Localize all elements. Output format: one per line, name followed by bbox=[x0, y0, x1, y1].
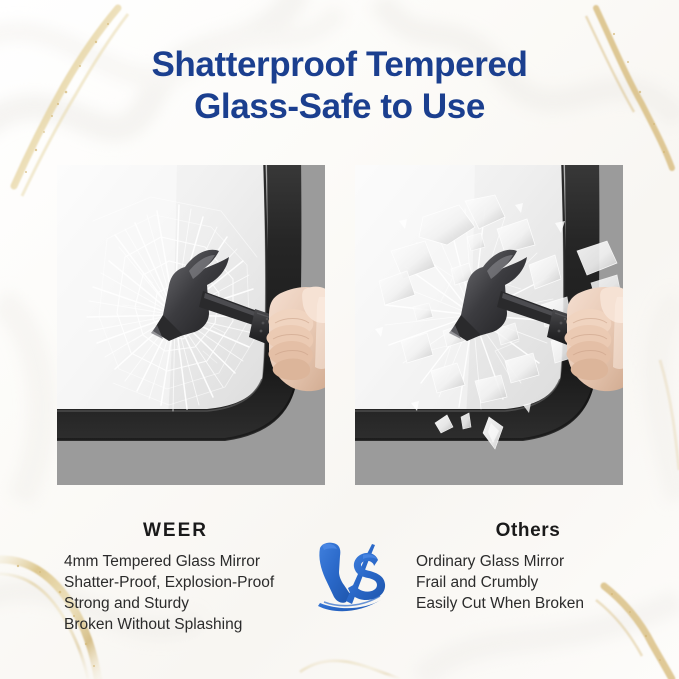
list-item: Easily Cut When Broken bbox=[416, 593, 658, 614]
product-image-others bbox=[355, 165, 623, 485]
list-item: Broken Without Splashing bbox=[64, 614, 313, 635]
vs-badge bbox=[306, 532, 392, 616]
comparison-column-weer: WEER 4mm Tempered Glass Mirror Shatter-P… bbox=[38, 520, 313, 635]
weer-feature-list: 4mm Tempered Glass Mirror Shatter-Proof,… bbox=[38, 551, 313, 635]
list-item: Frail and Crumbly bbox=[416, 572, 658, 593]
others-heading: Others bbox=[398, 520, 658, 542]
others-feature-list: Ordinary Glass Mirror Frail and Crumbly … bbox=[398, 551, 658, 614]
page-title: Shatterproof Tempered Glass-Safe to Use bbox=[0, 44, 679, 128]
list-item: Shatter-Proof, Explosion-Proof bbox=[64, 572, 313, 593]
product-image-weer bbox=[57, 165, 325, 485]
title-line-1: Shatterproof Tempered bbox=[0, 44, 679, 86]
weer-heading: WEER bbox=[38, 520, 313, 542]
list-item: 4mm Tempered Glass Mirror bbox=[64, 551, 313, 572]
list-item: Ordinary Glass Mirror bbox=[416, 551, 658, 572]
comparison-column-others: Others Ordinary Glass Mirror Frail and C… bbox=[398, 520, 658, 614]
title-line-2: Glass-Safe to Use bbox=[0, 86, 679, 128]
list-item: Strong and Sturdy bbox=[64, 593, 313, 614]
